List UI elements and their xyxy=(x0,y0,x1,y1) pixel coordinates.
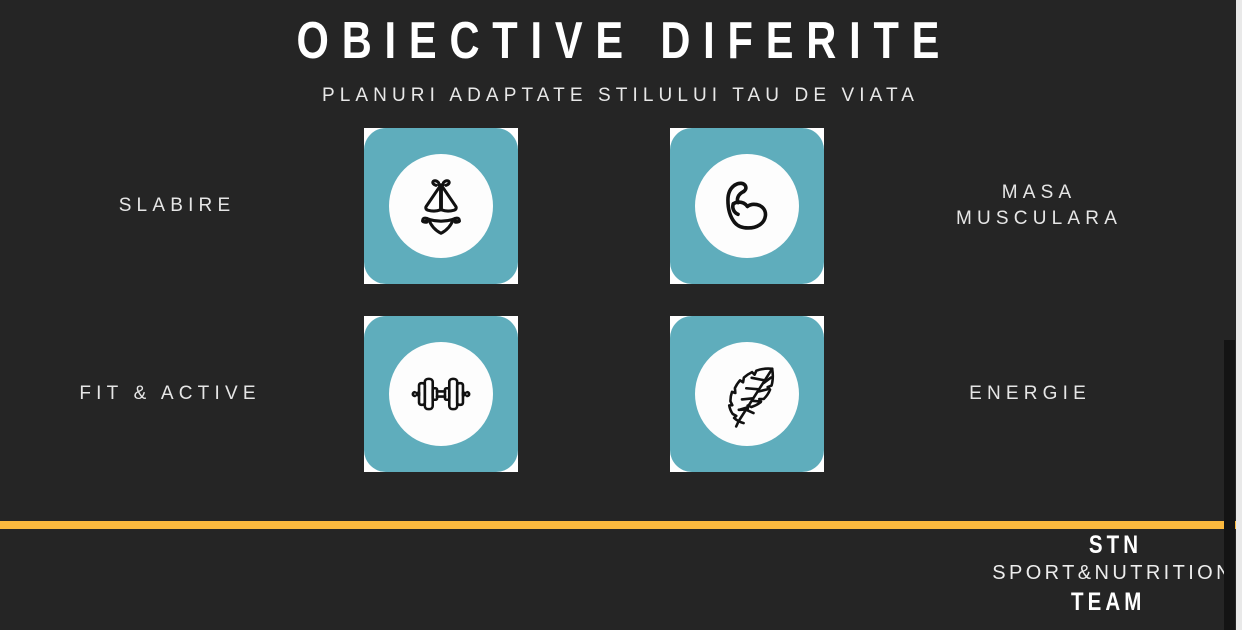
brand-footer: STN SPORT&NUTRITION TEAM xyxy=(0,531,1236,617)
brand-suffix: TEAM xyxy=(222,587,1234,617)
page-title: OBIECTIVE DIFERITE xyxy=(124,12,1113,70)
page-scrollbar-track[interactable] xyxy=(1236,0,1242,630)
slide-canvas: OBIECTIVE DIFERITE PLANURI ADAPTATE STIL… xyxy=(0,0,1242,630)
brand-initials: STN xyxy=(222,531,1234,560)
goal-tile-energie[interactable] xyxy=(670,316,824,472)
goal-label-slabire: SLABIRE xyxy=(0,193,364,219)
inner-scrollbar-thumb[interactable] xyxy=(1224,340,1235,630)
goals-row-1: SLABIRE xyxy=(0,120,1236,292)
goals-grid: SLABIRE xyxy=(0,120,1236,480)
goal-tile-fit-active[interactable] xyxy=(364,316,518,472)
goals-row-2: FIT & ACTIVE xyxy=(0,308,1236,480)
goal-label-energie: ENERGIE xyxy=(824,381,1236,407)
goal-label-masa-musculara: MASA MUSCULARA xyxy=(824,180,1236,232)
header: OBIECTIVE DIFERITE PLANURI ADAPTATE STIL… xyxy=(0,0,1236,108)
goal-tile-masa-musculara[interactable] xyxy=(670,128,824,284)
flexed-bicep-icon xyxy=(711,170,783,242)
goal-tile-slabire[interactable] xyxy=(364,128,518,284)
page-subtitle: PLANURI ADAPTATE STILULUI TAU DE VIATA xyxy=(0,84,1236,108)
brand-name: SPORT&NUTRITION xyxy=(0,560,1234,587)
dumbbell-icon xyxy=(405,358,477,430)
bikini-icon xyxy=(405,170,477,242)
monstera-leaf-icon xyxy=(711,358,783,430)
accent-divider xyxy=(0,521,1242,529)
goal-label-fit-active: FIT & ACTIVE xyxy=(0,381,364,407)
